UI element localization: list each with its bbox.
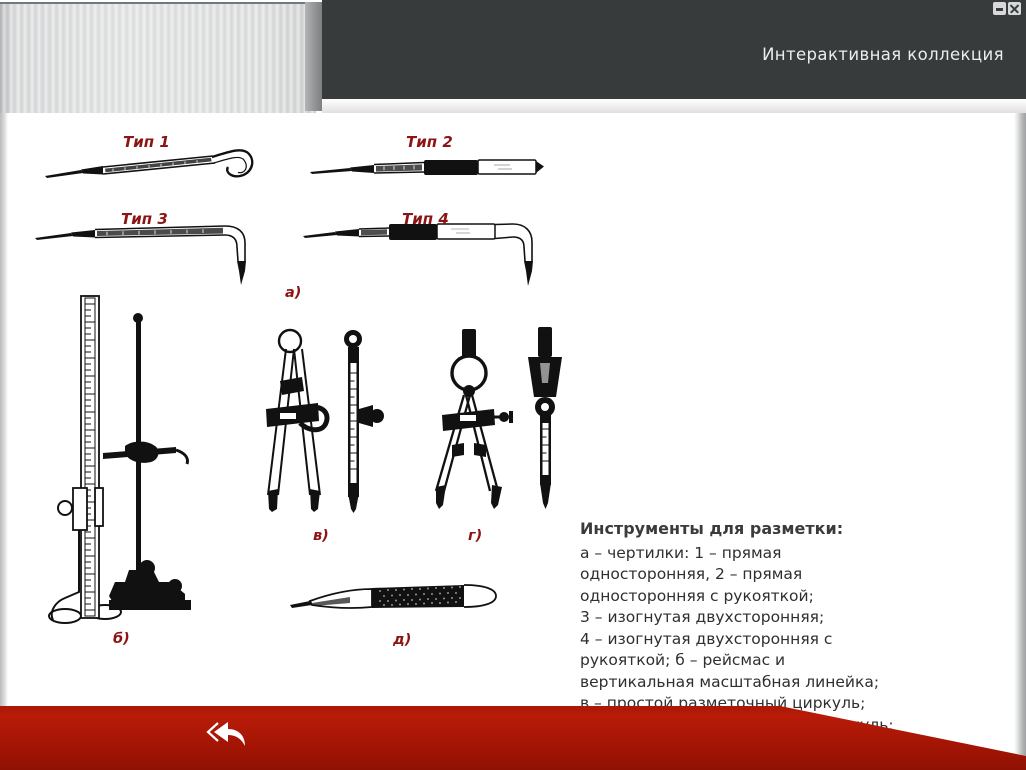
surface-gauge-and-scale-drawing bbox=[43, 290, 208, 630]
label-type-4: Тип 4 bbox=[402, 210, 449, 228]
caption-line: а – чертилки: 1 – прямая bbox=[580, 543, 980, 565]
spring-divider-side-view-drawing bbox=[520, 323, 572, 513]
page-title: Интерактивная коллекция bbox=[762, 45, 1004, 64]
top-chrome: Интерактивная коллекция bbox=[0, 0, 1026, 115]
caption-line: односторонняя с рукояткой; bbox=[580, 586, 980, 608]
metal-texture-band bbox=[322, 99, 1026, 113]
window-controls bbox=[993, 2, 1021, 15]
back-arrow-icon bbox=[205, 716, 251, 756]
title-bar: Интерактивная коллекция bbox=[322, 0, 1026, 99]
left-gray-panel bbox=[0, 2, 316, 113]
left-panel-edge bbox=[305, 2, 322, 111]
back-button[interactable] bbox=[205, 716, 251, 756]
label-part-d: д) bbox=[393, 632, 411, 648]
left-border bbox=[0, 113, 8, 707]
minimize-icon[interactable] bbox=[993, 2, 1006, 15]
footer-banner bbox=[0, 704, 1026, 770]
label-type-1: Тип 1 bbox=[123, 133, 170, 151]
scriber-type-2-drawing bbox=[308, 150, 548, 190]
label-type-2: Тип 2 bbox=[406, 133, 453, 151]
caption-line: односторонняя, 2 – прямая bbox=[580, 564, 980, 586]
simple-divider-compass-drawing bbox=[256, 323, 332, 513]
simple-divider-side-view-drawing bbox=[333, 323, 385, 513]
footer-red-shape bbox=[0, 704, 1026, 770]
caption-heading: Инструменты для разметки: bbox=[580, 518, 980, 540]
caption-line: 3 – изогнутая двухсторонняя; bbox=[580, 607, 980, 629]
close-icon[interactable] bbox=[1008, 2, 1021, 15]
caption-line: 4 – изогнутая двухсторонняя с bbox=[580, 629, 980, 651]
application-window: Интерактивная коллекция Тип 1 bbox=[0, 0, 1026, 770]
caption-line: вертикальная масштабная линейка; bbox=[580, 672, 980, 694]
center-punch-drawing bbox=[288, 577, 503, 625]
label-part-b: б) bbox=[113, 631, 130, 647]
label-type-3: Тип 3 bbox=[121, 210, 168, 228]
label-part-v: в) bbox=[313, 528, 329, 544]
right-border bbox=[1014, 113, 1026, 770]
label-part-a: а) bbox=[285, 285, 301, 301]
spring-divider-compass-drawing bbox=[426, 327, 516, 513]
illustration-canvas: Тип 1 Тип 2 bbox=[8, 115, 1014, 707]
caption-line: рукояткой; б – рейсмас и bbox=[580, 650, 980, 672]
label-part-g: г) bbox=[468, 528, 482, 544]
